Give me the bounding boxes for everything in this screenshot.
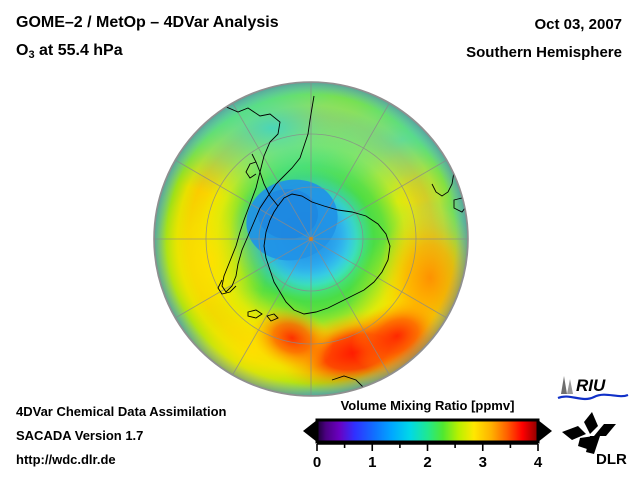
riu-tower-icon <box>561 376 567 394</box>
colorbar-tick-4: 4 <box>534 454 543 470</box>
colorbar-tick-1: 1 <box>368 454 376 470</box>
coastline-new-zealand <box>450 368 462 386</box>
polar-stereographic-map <box>152 80 470 398</box>
coastline-australia <box>452 106 468 136</box>
footer-version-label: SACADA Version 1.7 <box>16 428 143 443</box>
date-label: Oct 03, 2007 <box>534 16 622 33</box>
dlr-pinwheel-icon <box>562 412 616 454</box>
colorbar-tick-3: 3 <box>479 454 487 470</box>
riu-tower-icon-2 <box>567 379 573 394</box>
footer-url-link[interactable]: http://wdc.dlr.de <box>16 452 116 467</box>
dlr-logo-text: DLR <box>596 451 627 466</box>
species-subscript: 3 <box>28 49 34 61</box>
pressure-level-label: at 55.4 hPa <box>35 42 123 59</box>
colorbar-gradient <box>317 420 538 442</box>
species-label: O <box>16 42 28 59</box>
colorbar-title: Volume Mixing Ratio [ppmv] <box>300 398 555 413</box>
footer-assimilation-label: 4DVar Chemical Data Assimilation <box>16 404 227 419</box>
dlr-logo: DLR <box>560 410 632 466</box>
colorbar-arrow-low <box>303 420 317 442</box>
colorbar-ticks <box>317 444 538 451</box>
riu-logo: RIU <box>556 372 630 402</box>
colorbar-tick-labels: 0 1 2 3 4 <box>313 454 543 470</box>
colorbar-svg: 0 1 2 3 4 <box>300 417 555 470</box>
riu-wave-icon <box>558 395 628 399</box>
riu-logo-text: RIU <box>576 376 606 395</box>
south-pole-marker <box>309 237 313 241</box>
colorbar-arrow-high <box>538 420 552 442</box>
globe-svg <box>152 80 470 398</box>
colorbar-tick-2: 2 <box>423 454 431 470</box>
colorbar-tick-0: 0 <box>313 454 321 470</box>
colorbar: Volume Mixing Ratio [ppmv] <box>300 398 555 470</box>
hemisphere-label: Southern Hemisphere <box>466 44 622 61</box>
page-title: GOME–2 / MetOp – 4DVar Analysis <box>16 14 279 32</box>
species-level-subtitle: O3 at 55.4 hPa <box>16 42 123 60</box>
